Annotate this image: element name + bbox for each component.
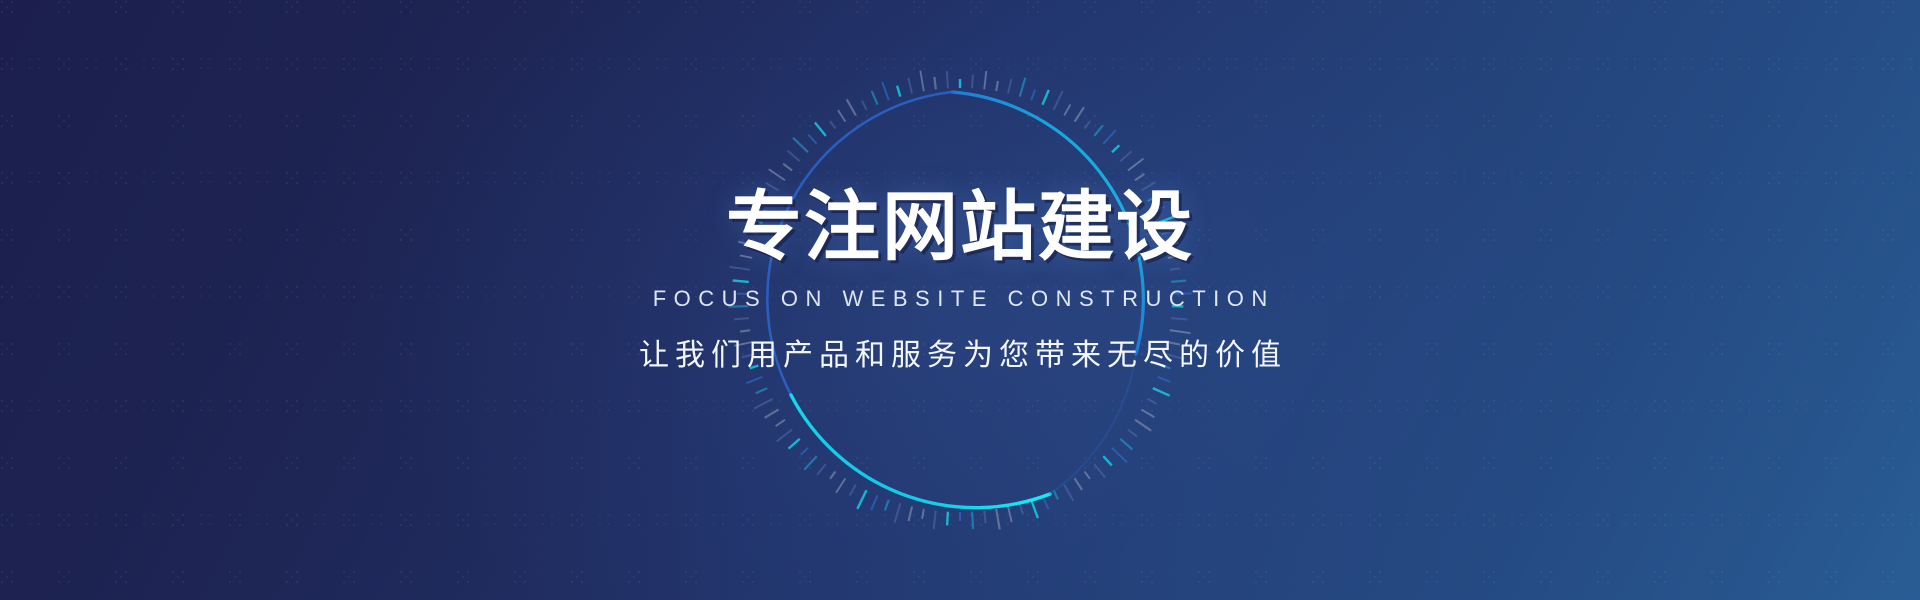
page-tagline: 让我们用产品和服务为您带来无尽的价值 (0, 337, 1920, 375)
page-subtitle-english: FOCUS ON WEBSITE CONSTRUCTION (0, 286, 1920, 312)
hero-banner: 专注网站建设 FOCUS ON WEBSITE CONSTRUCTION 让我们… (0, 0, 1920, 600)
page-title: 专注网站建设 (0, 186, 1920, 270)
banner-text-block: 专注网站建设 FOCUS ON WEBSITE CONSTRUCTION 让我们… (0, 186, 1920, 375)
